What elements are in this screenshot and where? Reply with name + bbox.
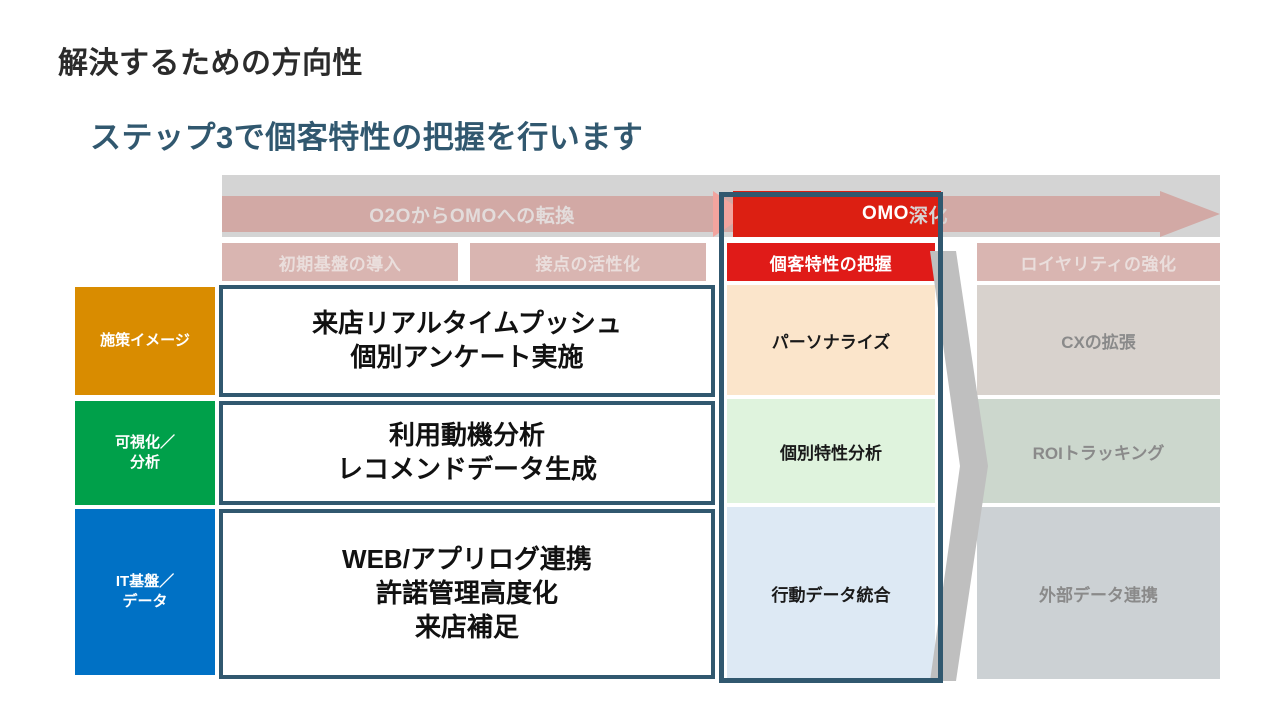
current-cell-row2: 個別特性分析	[727, 399, 935, 503]
future-cell-row1: CXの拡張	[977, 285, 1220, 395]
measure-line: レコメンドデータ生成	[337, 453, 597, 487]
measure-box-row3: WEB/アプリログ連携 許諾管理高度化 来店補足	[219, 509, 715, 679]
stage-label-1[interactable]: 初期基盤の導入	[222, 243, 458, 281]
row-label-line2: 分析	[130, 453, 160, 473]
measure-line: 来店補足	[415, 611, 519, 645]
stage-label-2[interactable]: 接点の活性化	[470, 243, 706, 281]
current-cell-row3: 行動データ統合	[727, 507, 935, 679]
stage-label-3[interactable]: 個客特性の把握	[727, 243, 935, 281]
measure-box-row1: 来店リアルタイムプッシュ 個別アンケート実施	[219, 285, 715, 397]
page-title: 解決するための方向性	[58, 38, 363, 82]
current-cell-row1: パーソナライズ	[727, 285, 935, 395]
row-label-analytics: 可視化／ 分析	[75, 401, 215, 505]
row-label-measures: 施策イメージ	[75, 287, 215, 395]
row-label-line1: 可視化／	[115, 433, 175, 453]
row-label-it-foundation: IT基盤／ データ	[75, 509, 215, 675]
measure-box-row2: 利用動機分析 レコメンドデータ生成	[219, 401, 715, 505]
measure-line: WEB/アプリログ連携	[342, 543, 592, 577]
future-cell-row2: ROIトラッキング	[977, 399, 1220, 503]
page-subtitle: ステップ3で個客特性の把握を行います	[90, 112, 643, 157]
stage-label-4[interactable]: ロイヤリティの強化	[977, 243, 1220, 281]
row-label-line2: データ	[122, 592, 167, 612]
roadmap-diagram: O2OからOMOへの転換 OMO深化 初期基盤の導入 接点の活性化 個客特性の把…	[0, 175, 1280, 695]
measure-line: 来店リアルタイムプッシュ	[312, 307, 622, 341]
next-phase-chevron-icon	[930, 251, 988, 681]
measure-line: 個別アンケート実施	[351, 341, 584, 375]
stage-label-row: 初期基盤の導入 接点の活性化 個客特性の把握 ロイヤリティの強化	[0, 243, 1280, 281]
measure-line: 利用動機分析	[389, 419, 545, 453]
row-label-line1: IT基盤／	[116, 572, 174, 592]
future-cell-row3: 外部データ連携	[977, 507, 1220, 679]
active-phase-arrow	[713, 191, 941, 237]
measure-line: 許諾管理高度化	[376, 577, 558, 611]
